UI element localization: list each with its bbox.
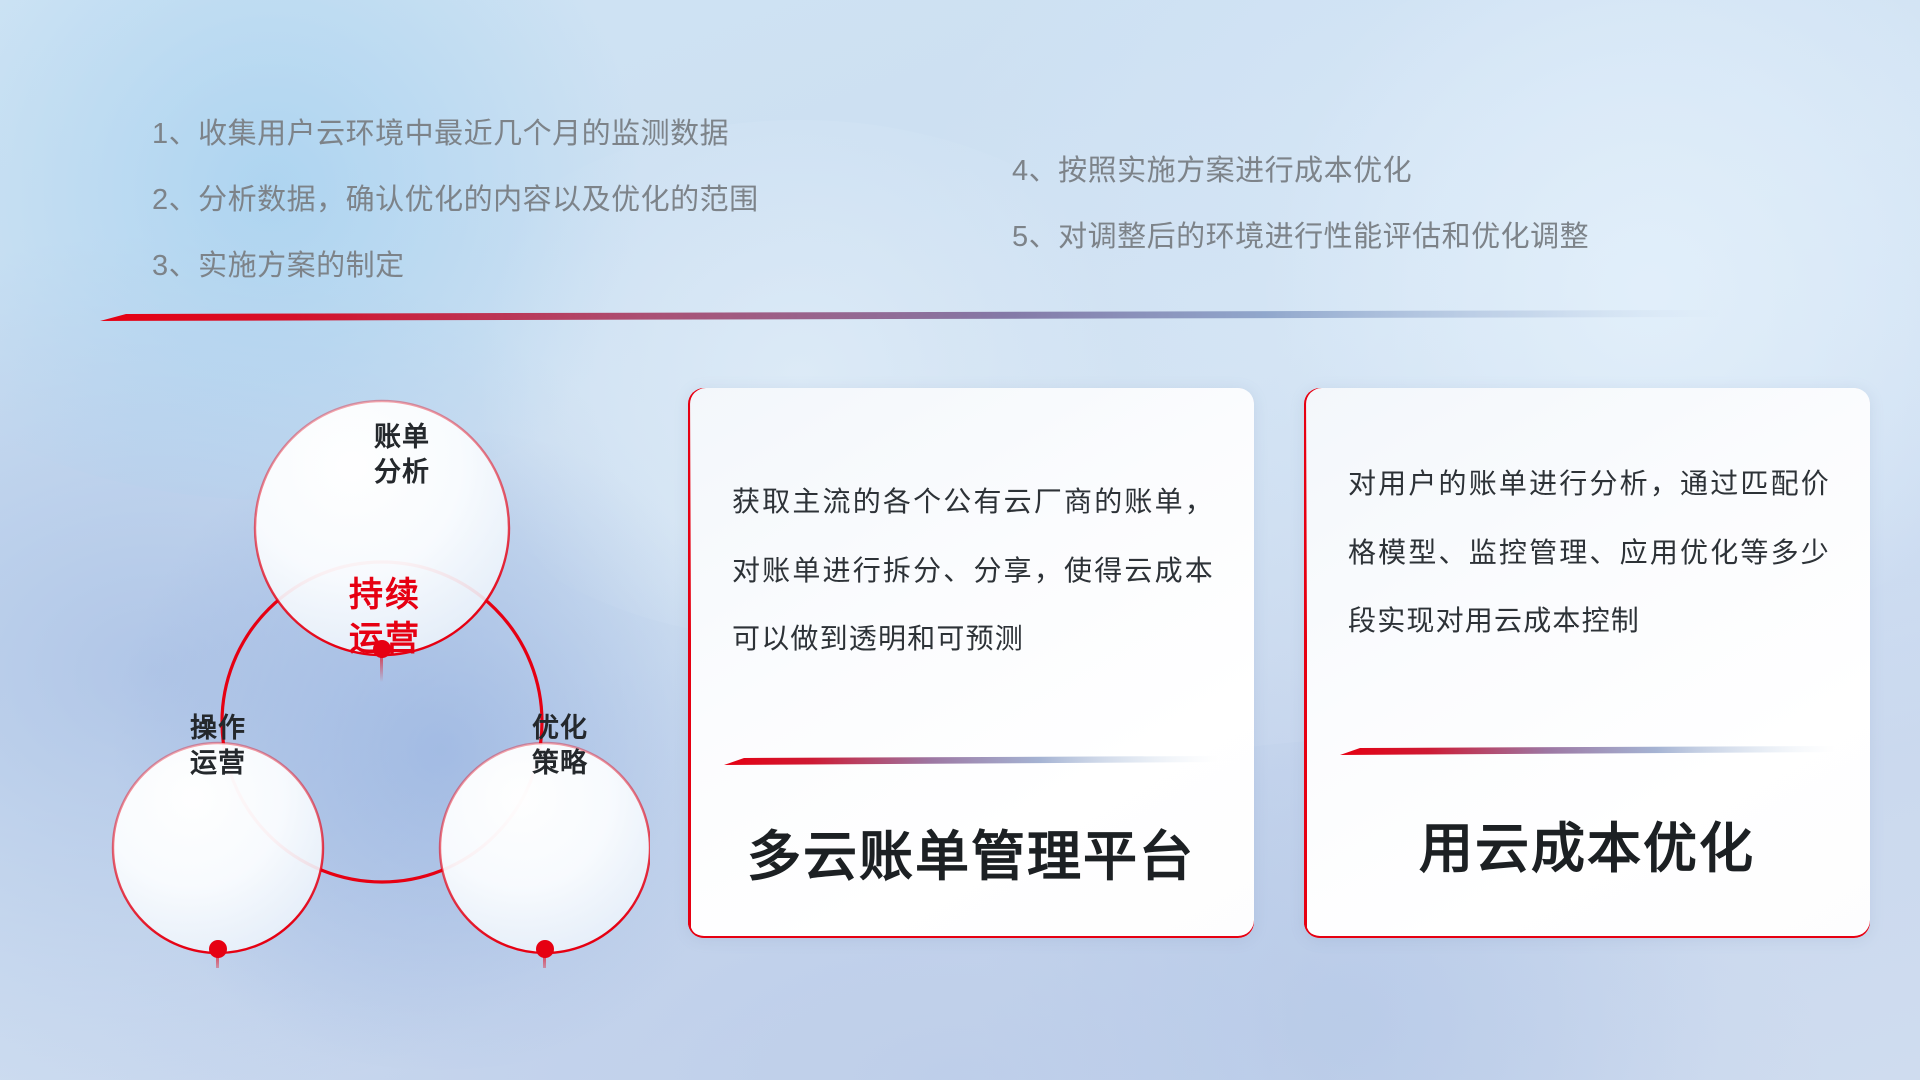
process-step-3: 3、实施方案的制定 [152, 252, 759, 281]
diagram-center-label: 持续 运营 [295, 573, 475, 661]
process-step-5: 5、对调整后的环境进行性能评估和优化调整 [1012, 223, 1589, 252]
process-steps-left-column: 1、收集用户云环境中最近几个月的监测数据 2、分析数据，确认优化的内容以及优化的… [152, 120, 759, 281]
feature-card-multi-cloud-billing-platform[interactable]: 获取主流的各个公有云厂商的账单，对账单进行拆分、分享，使得云成本可以做到透明和可… [688, 388, 1254, 938]
card-accent-rule [1340, 746, 1834, 755]
connector-node-left [209, 940, 227, 958]
process-step-2: 2、分析数据，确认优化的内容以及优化的范围 [152, 186, 759, 215]
process-step-1: 1、收集用户云环境中最近几个月的监测数据 [152, 120, 759, 149]
card-description: 对用户的账单进行分析，通过匹配价格模型、监控管理、应用优化等多少段实现对用云成本… [1348, 450, 1830, 656]
bubble-label-optimize-policy: 优化 策略 [470, 711, 650, 780]
process-step-4: 4、按照实施方案进行成本优化 [1012, 157, 1589, 186]
card-accent-rule [724, 756, 1218, 765]
card-description: 获取主流的各个公有云厂商的账单，对账单进行拆分、分享，使得云成本可以做到透明和可… [732, 468, 1214, 674]
slide-canvas: 1、收集用户云环境中最近几个月的监测数据 2、分析数据，确认优化的内容以及优化的… [0, 0, 1920, 1080]
continuous-operation-diagram: 账单 分析 操作 运营 优化 策略 持续 运营 [90, 348, 650, 968]
card-title: 多云账单管理平台 [688, 812, 1254, 891]
process-steps-right-column: 4、按照实施方案进行成本优化 5、对调整后的环境进行性能评估和优化调整 [1012, 157, 1589, 252]
section-divider [100, 310, 1720, 321]
connector-node-right [536, 940, 554, 958]
bubble-label-bill-analysis: 账单 分析 [312, 420, 492, 489]
bubble-label-ops-operation: 操作 运营 [128, 711, 308, 780]
feature-card-cloud-cost-optimization[interactable]: 对用户的账单进行分析，通过匹配价格模型、监控管理、应用优化等多少段实现对用云成本… [1304, 388, 1870, 938]
card-title: 用云成本优化 [1304, 804, 1870, 883]
